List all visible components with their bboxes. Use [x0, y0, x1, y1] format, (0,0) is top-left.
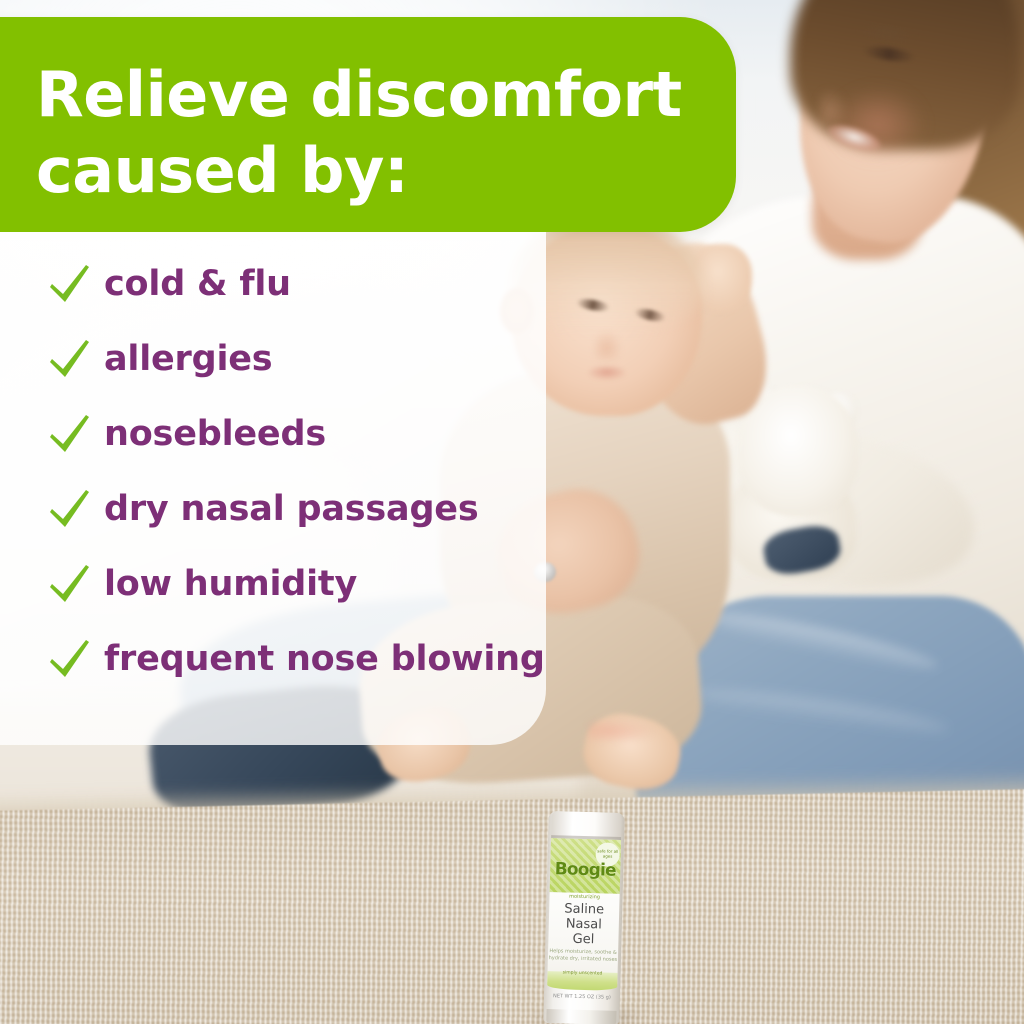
green-check-icon [46, 411, 92, 457]
woven-rug [0, 789, 1024, 1024]
list-item: low humidity [0, 546, 560, 621]
list-item-label: nosebleeds [104, 414, 326, 454]
list-item: allergies [0, 321, 560, 396]
product-name: Saline Nasal Gel [545, 901, 622, 948]
list-item: dry nasal passages [0, 471, 560, 546]
green-check-icon [46, 261, 92, 307]
headline-line-2: caused by: [36, 133, 706, 209]
green-check-icon [46, 561, 92, 607]
product-name-line-3: Gel [545, 931, 621, 948]
list-item-label: allergies [104, 339, 272, 379]
product-tube: safe for all ages Boogie moisturizing Sa… [543, 811, 625, 1024]
green-check-icon [46, 636, 92, 682]
headline-banner: Relieve discomfort caused by: [0, 17, 736, 232]
green-check-icon [46, 336, 92, 382]
green-check-icon [46, 486, 92, 532]
list-item: frequent nose blowing [0, 621, 560, 696]
ad-canvas: Relieve discomfort caused by: cold & flu… [0, 0, 1024, 1024]
baby-toes [588, 718, 658, 744]
tube-crimp-seam [546, 1009, 616, 1024]
list-item: cold & flu [0, 246, 560, 321]
list-item: nosebleeds [0, 396, 560, 471]
brand-logo: Boogie [547, 859, 623, 881]
headline-text: Relieve discomfort caused by: [36, 57, 706, 209]
list-item-label: frequent nose blowing [104, 639, 545, 679]
teddy-bear-head [738, 386, 858, 516]
product-description: Helps moisturize, soothe & hydrate dry, … [545, 948, 621, 964]
baby-nose [594, 330, 622, 360]
list-item-label: low humidity [104, 564, 357, 604]
list-item-label: cold & flu [104, 264, 291, 304]
headline-line-1: Relieve discomfort [36, 58, 682, 131]
benefits-list: cold & flu allergies nosebleeds dry nasa… [0, 246, 560, 696]
baby-mouth [588, 366, 626, 380]
list-item-label: dry nasal passages [104, 489, 478, 529]
